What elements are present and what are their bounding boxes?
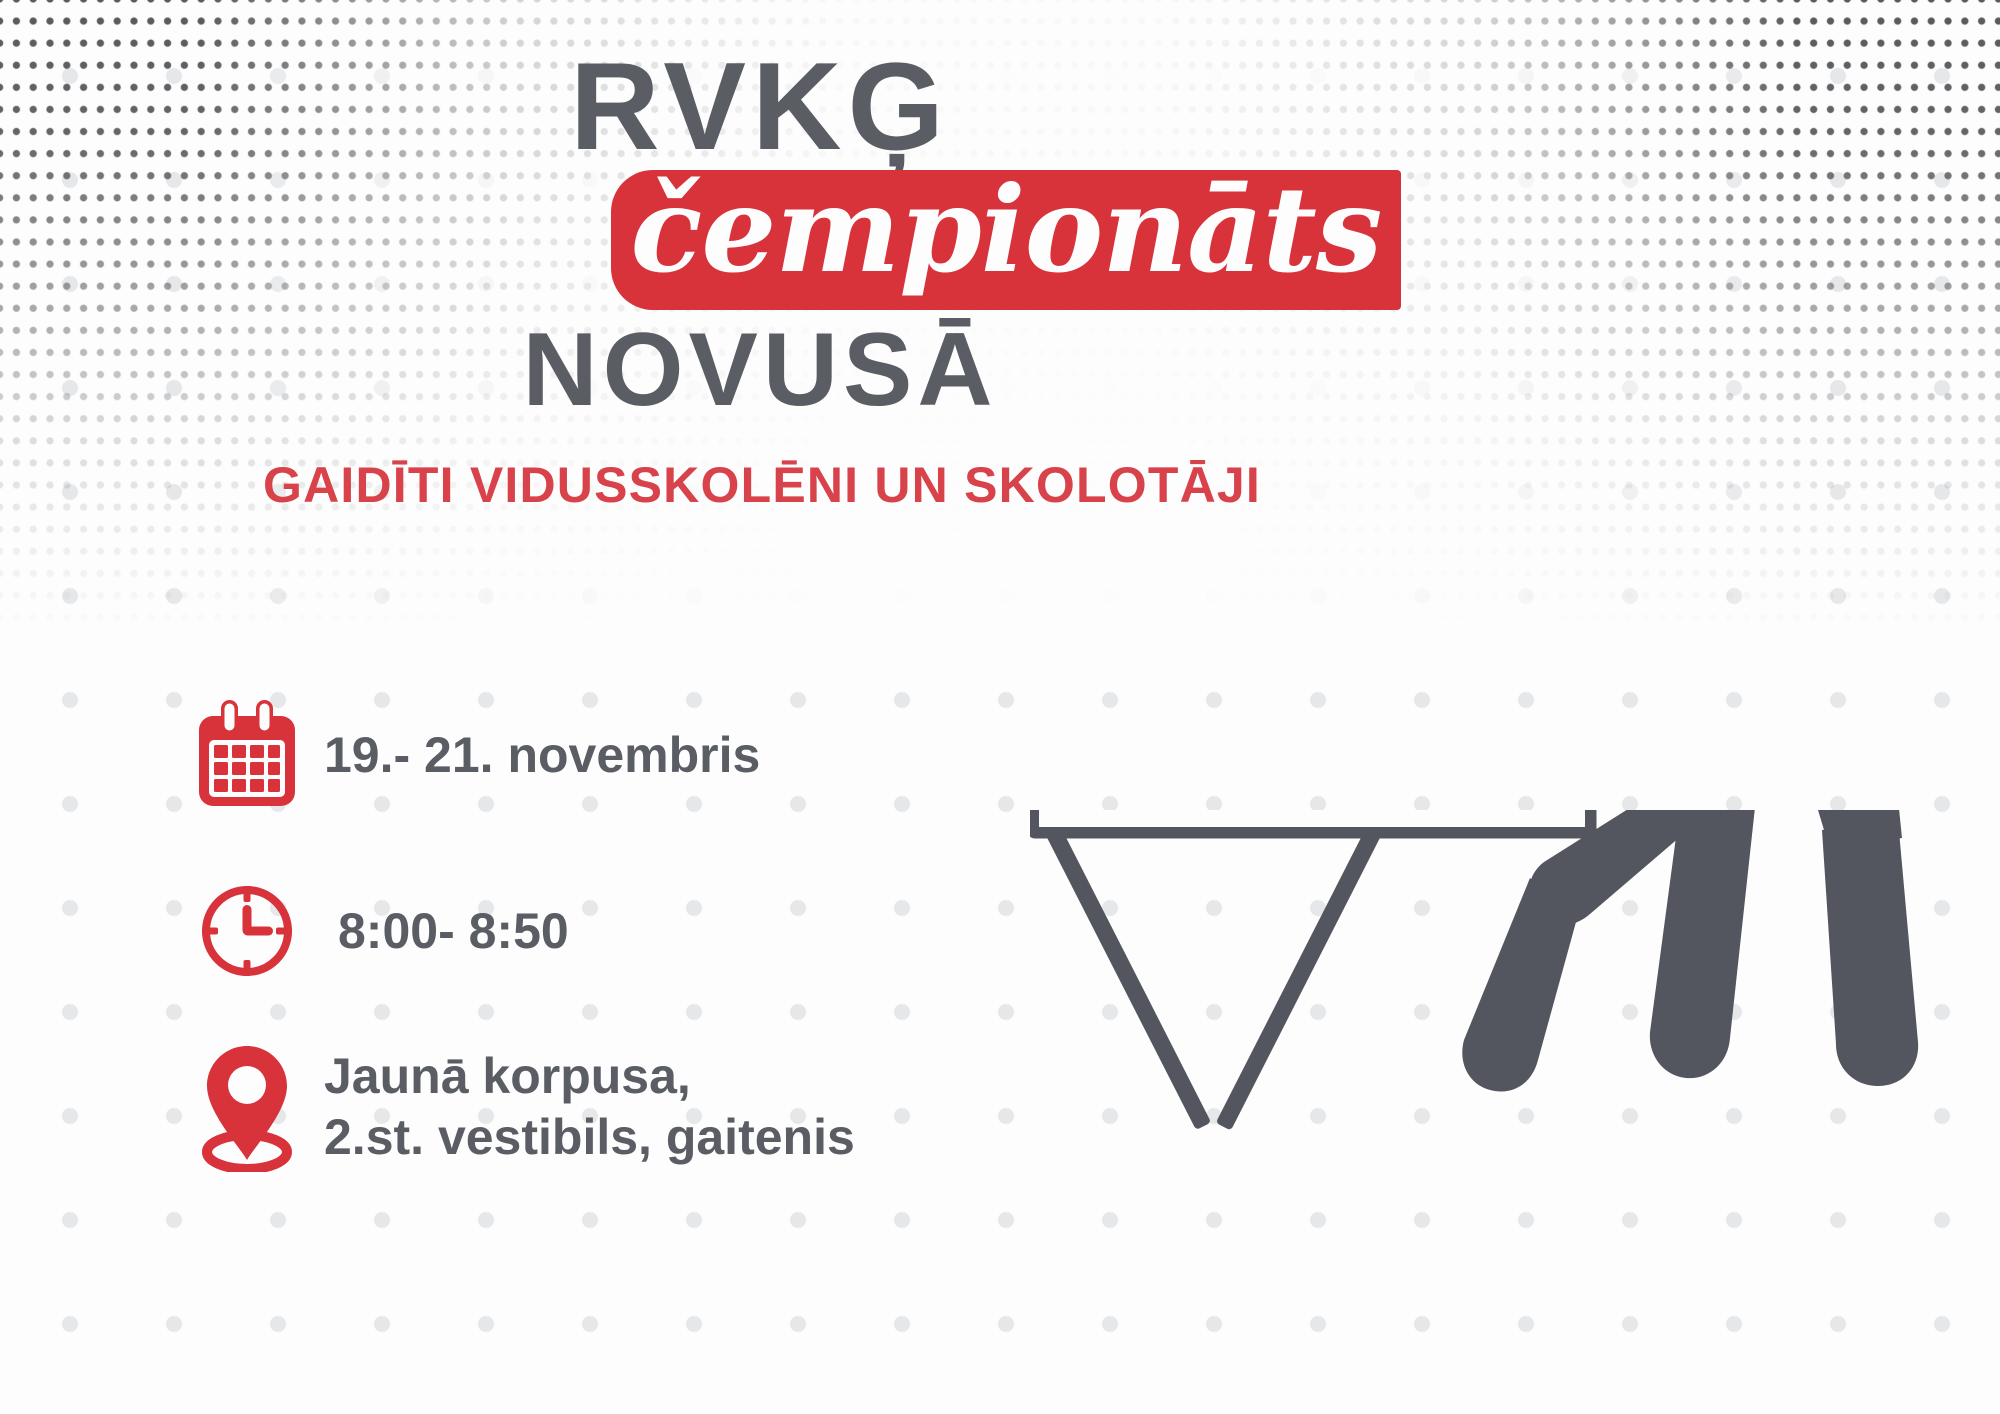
detail-value-date: 19.- 21. novembris [306, 725, 760, 786]
detail-value-venue: Jaunā korpusa, 2.st. vestibils, gaitenis [306, 1046, 855, 1168]
calendar-icon [188, 690, 306, 820]
detail-row-time: 8:00- 8:50 [188, 866, 1088, 996]
banner-wrap: čempionāts [0, 152, 1460, 322]
detail-row-venue: Jaunā korpusa, 2.st. vestibils, gaitenis [188, 1042, 1088, 1172]
novus-player-illustration [1030, 810, 1960, 1320]
event-details-list: 19.- 21. novembris 8:00- 8:50 [188, 690, 1088, 1172]
banner-word: čempionāts [611, 130, 1401, 330]
poster-content: RVKĢ čempionāts NOVUSĀ GAIDĪTI VIDUSSKOL… [0, 0, 2000, 1414]
detail-row-date: 19.- 21. novembris [188, 690, 1088, 820]
subtitle-text: GAIDĪTI VIDUSSKOLĒNI UN SKOLOTĀJI [0, 456, 1460, 514]
detail-value-time: 8:00- 8:50 [306, 901, 569, 962]
clock-icon [188, 866, 306, 996]
discipline-title: NOVUSĀ [0, 318, 1460, 422]
location-pin-icon [188, 1042, 306, 1172]
title-block: RVKĢ čempionāts NOVUSĀ GAIDĪTI VIDUSSKOL… [0, 44, 1460, 514]
poster-canvas: RVKĢ čempionāts NOVUSĀ GAIDĪTI VIDUSSKOL… [0, 0, 2000, 1414]
